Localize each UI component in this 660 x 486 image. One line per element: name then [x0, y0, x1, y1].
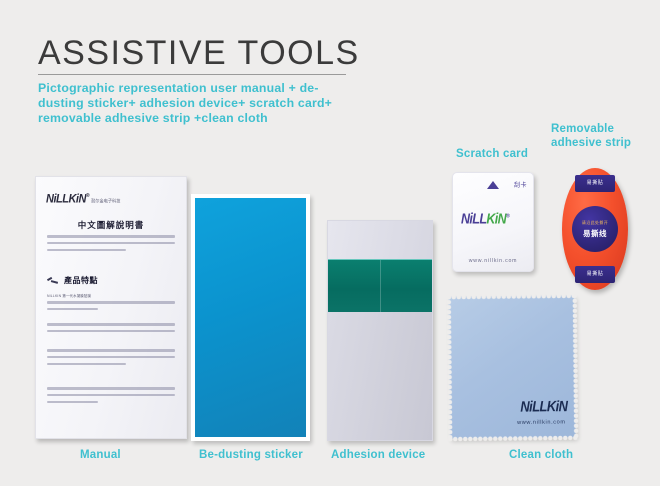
text-line [47, 242, 175, 245]
scratch-card-url: www.nillkin.com [453, 258, 533, 264]
dedusting-sticker [191, 194, 310, 441]
caption-scratch-card: Scratch card [456, 148, 528, 160]
text-line [47, 249, 126, 252]
clean-cloth: NiLLKiN www.nillkin.com [448, 295, 575, 438]
adhesive-strip-top-label: 易撕贴 [575, 175, 615, 192]
text-line [47, 330, 175, 333]
text-line [47, 363, 126, 366]
text-line [47, 323, 175, 326]
text-line [47, 235, 175, 238]
cloth-edge-bottom [448, 435, 578, 441]
manual-body-block-2 [47, 323, 175, 337]
manual-brand-logo: NiLLKiN®耐尔金电子科技 [46, 192, 120, 205]
text-line [47, 356, 175, 359]
caption-adhesion-device: Adhesion device [331, 449, 425, 461]
scratch-card-cn-label: 刮卡 [514, 180, 527, 189]
clean-cloth-brand-logo: NiLLKiN [520, 397, 567, 415]
dedusting-sticker-surface [195, 198, 306, 437]
title-divider [38, 74, 346, 75]
text-line [47, 308, 98, 311]
removable-adhesive-strip: 易撕贴 请沿此处撕开 易撕线 易撕贴 [562, 168, 628, 290]
cloth-edge-right [572, 293, 579, 439]
manual-section-subtitle: NILLKIN 第一代水凝膜貼膜 [47, 293, 91, 298]
text-line [47, 387, 175, 390]
manual-brand-cn: 耐尔金电子科技 [91, 198, 120, 204]
band-center-seam [380, 260, 381, 313]
text-line [47, 349, 175, 352]
caption-manual: Manual [80, 449, 121, 461]
manual-body-block-4 [47, 387, 175, 407]
manual-booklet: NiLLKiN®耐尔金电子科技 中文圖解說明書 產品特點 NILLKIN 第一代… [35, 176, 187, 439]
manual-body-block-3 [47, 349, 175, 369]
caption-dedusting-sticker: Be-dusting sticker [199, 449, 303, 461]
cloth-edge-top [446, 293, 576, 299]
manual-intro-paragraph [47, 235, 175, 255]
scratch-card-top-row: 刮卡 [453, 180, 527, 189]
caption-removable-adhesive-strip: Removable adhesive strip [551, 122, 643, 150]
adhesive-strip-bottom-label: 易撕贴 [575, 266, 615, 283]
caption-clean-cloth: Clean cloth [509, 449, 573, 461]
cloth-edge-left [446, 295, 453, 441]
manual-section-heading: 產品特點 [47, 275, 177, 286]
adhesion-device-green-band [328, 259, 432, 313]
page-title: ASSISTIVE TOOLS [38, 34, 368, 72]
text-line [47, 394, 175, 397]
brand-trademark: ® [506, 213, 509, 220]
manual-heading: 中文圖解說明書 [36, 219, 186, 231]
brand-part-2: KiN [486, 211, 506, 227]
header: ASSISTIVE TOOLS Pictographic representat… [38, 34, 368, 126]
text-line [47, 301, 175, 304]
adhesion-device [327, 220, 433, 441]
clean-cloth-url: www.nillkin.com [517, 419, 566, 426]
adhesive-strip-center-badge: 请沿此处撕开 易撕线 [572, 206, 618, 252]
badge-main-text: 易撕线 [583, 228, 607, 239]
assistive-tools-poster: ASSISTIVE TOOLS Pictographic representat… [0, 0, 660, 486]
badge-top-text: 请沿此处撕开 [582, 220, 608, 226]
scratch-card-brand-logo: NiLLKiN® [461, 211, 509, 227]
manual-section-title: 產品特點 [64, 275, 98, 286]
scratch-card: 刮卡 NiLLKiN® www.nillkin.com [452, 172, 534, 272]
adhesion-device-lower-panel [328, 312, 432, 440]
triangle-up-icon [487, 181, 499, 189]
sparkle-icon [47, 275, 59, 286]
text-line [47, 401, 98, 404]
manual-body-block-1 [47, 301, 175, 315]
page-subtitle: Pictographic representation user manual … [38, 81, 353, 126]
brand-part-1: NiLL [461, 211, 486, 227]
